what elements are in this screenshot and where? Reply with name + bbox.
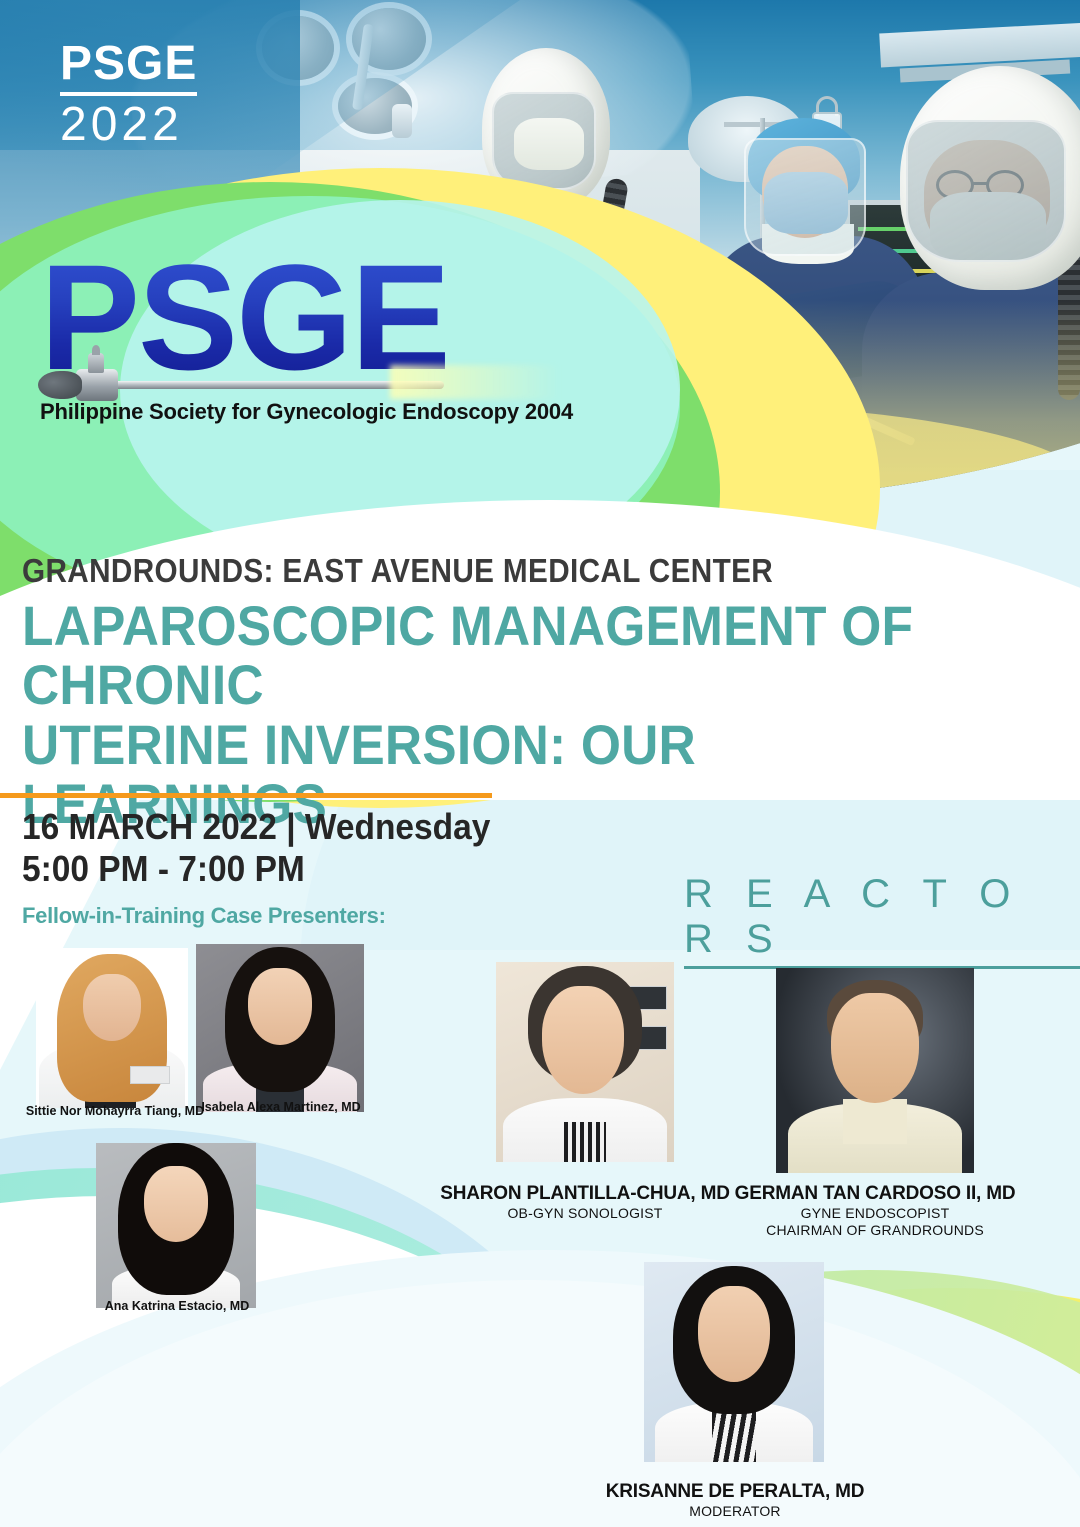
surgeon-right-visor xyxy=(906,120,1066,262)
portrait-face-5 xyxy=(831,993,918,1104)
psge-2022-wordmark: PSGE 2022 xyxy=(60,40,197,150)
presenter-1-portrait xyxy=(36,948,188,1108)
presenter-caption-3: Ana Katrina Estacio, MD xyxy=(86,1299,268,1313)
portrait-inner-top-6 xyxy=(712,1410,755,1462)
reactor-2-name: GERMAN TAN CARDOSO II, MD xyxy=(730,1183,1020,1205)
portrait-face-2 xyxy=(248,968,312,1045)
endoscope-graphic xyxy=(30,367,450,397)
wordmark-line-1: PSGE xyxy=(60,40,197,96)
moderator-photo xyxy=(644,1262,824,1462)
reactor-2-portrait xyxy=(776,968,974,1173)
moderator-portrait xyxy=(644,1262,824,1462)
portrait-face-1 xyxy=(83,974,141,1041)
presenter-photo-2 xyxy=(196,944,364,1112)
presenter-2-portrait xyxy=(196,944,364,1112)
reactor-caption-1: SHARON PLANTILLA-CHUA, MD OB-GYN SONOLOG… xyxy=(424,1183,746,1222)
title-block: GRANDROUNDS: EAST AVENUE MEDICAL CENTER … xyxy=(22,552,1072,833)
moderator-role: MODERATOR xyxy=(580,1503,890,1520)
reactor-photo-1 xyxy=(496,962,674,1162)
endoscope-light-tip xyxy=(92,345,100,355)
reactor-photo-2 xyxy=(776,968,974,1173)
presenter-caption-2: Isabela Alexa Martinez, MD xyxy=(186,1100,376,1114)
endoscope-light-post xyxy=(88,353,104,373)
endoscope-eyepiece xyxy=(38,371,82,399)
event-date: 16 MARCH 2022 | Wednesday xyxy=(22,806,490,848)
event-time: 5:00 PM - 7:00 PM xyxy=(22,848,490,890)
surgeon-left-mask xyxy=(514,118,584,170)
schedule-block: 16 MARCH 2022 | Wednesday 5:00 PM - 7:00… xyxy=(22,806,490,891)
orange-divider xyxy=(0,793,492,798)
reactor-1-name: SHARON PLANTILLA-CHUA, MD xyxy=(424,1183,746,1205)
reactor-1-role: OB-GYN SONOLOGIST xyxy=(424,1205,746,1222)
psge-logo: PSGE Philippine Society for Gynecologic … xyxy=(20,250,580,425)
reactor-caption-2: GERMAN TAN CARDOSO II, MD GYNE ENDOSCOPI… xyxy=(730,1183,1020,1238)
portrait-collar-5 xyxy=(843,1099,906,1144)
poster-canvas: PSGE 2022 PSGE Philippine Society for Gy… xyxy=(0,0,1080,1527)
portrait-face-3 xyxy=(144,1166,208,1242)
reactor-2-role-line-2: CHAIRMAN OF GRANDROUNDS xyxy=(730,1222,1020,1239)
presenter-photo-1 xyxy=(36,948,188,1108)
or-light-knob xyxy=(392,104,412,138)
endoscope-body xyxy=(76,369,118,401)
portrait-inner-top-4 xyxy=(564,1122,607,1162)
psge-logo-tagline: Philippine Society for Gynecologic Endos… xyxy=(40,399,580,425)
portrait-face-4 xyxy=(542,986,624,1094)
wordmark-line-2: 2022 xyxy=(60,100,197,150)
reactor-2-role-line-1: GYNE ENDOSCOPIST xyxy=(730,1205,1020,1222)
surgeon-middle-face-shield xyxy=(744,138,866,256)
endoscope-light-glow xyxy=(390,365,560,399)
portrait-face-6 xyxy=(698,1286,770,1382)
moderator-name: KRISANNE DE PERALTA, MD xyxy=(580,1481,890,1503)
kicker-text: GRANDROUNDS: EAST AVENUE MEDICAL CENTER xyxy=(22,552,967,590)
event-title-line-1: LAPAROSCOPIC MANAGEMENT OF CHRONIC xyxy=(22,596,988,715)
reactors-heading: R E A C T O R S xyxy=(684,872,1080,969)
presenter-photo-3 xyxy=(96,1143,256,1308)
presenters-label: Fellow-in-Training Case Presenters: xyxy=(22,903,386,929)
moderator-caption: KRISANNE DE PERALTA, MD MODERATOR xyxy=(580,1481,890,1520)
reactor-1-portrait xyxy=(496,962,674,1162)
portrait-name-badge-1 xyxy=(130,1066,170,1084)
presenter-3-portrait xyxy=(96,1143,256,1308)
